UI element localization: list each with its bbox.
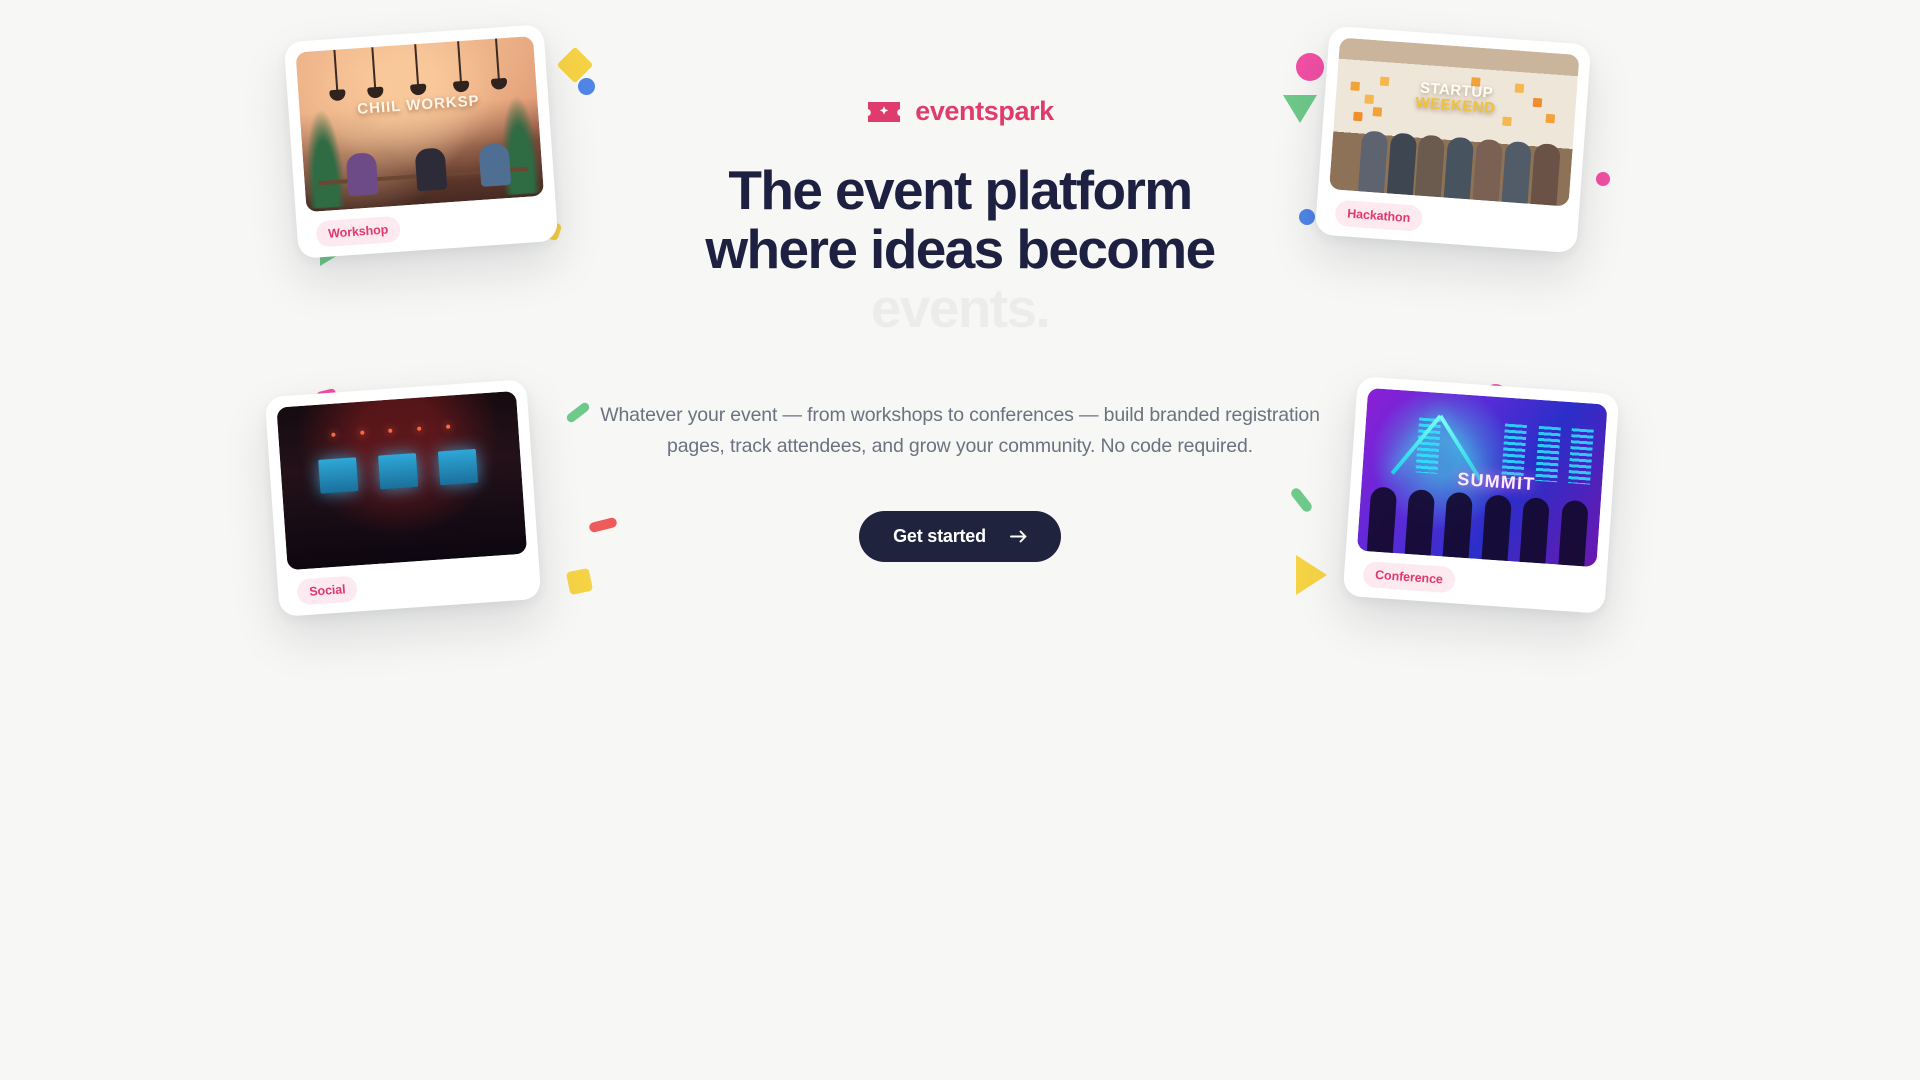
- ticket-icon: [866, 99, 902, 125]
- floating-card-social[interactable]: Social: [265, 379, 542, 617]
- get-started-label: Get started: [893, 526, 986, 547]
- social-chip: Social: [296, 575, 358, 605]
- brand-name: eventspark: [915, 96, 1054, 127]
- confetti-pink-circle-right: [1296, 53, 1324, 81]
- hero-content: eventspark The event platform where idea…: [580, 96, 1340, 562]
- hero-section: CHIIL WORKSP Workshop: [0, 0, 1920, 735]
- arrow-right-icon: [1010, 530, 1027, 543]
- brand-logo[interactable]: eventspark: [580, 96, 1340, 127]
- floating-card-workshop[interactable]: CHIIL WORKSP Workshop: [284, 24, 559, 259]
- hackathon-chip: Hackathon: [1334, 200, 1423, 232]
- headline-line-2: where ideas become: [580, 220, 1340, 279]
- floating-card-conference[interactable]: SUMMIT Conference: [1343, 376, 1620, 614]
- workshop-photo: CHIIL WORKSP: [295, 36, 544, 212]
- workshop-chip: Workshop: [315, 216, 401, 248]
- conference-photo: SUMMIT: [1357, 388, 1608, 567]
- get-started-button[interactable]: Get started: [859, 511, 1061, 562]
- conference-chip: Conference: [1362, 561, 1455, 593]
- confetti-yellow-square-lowleft: [566, 568, 593, 595]
- hackathon-photo: STARTUP WEEKEND: [1329, 37, 1579, 206]
- headline-line-3: events.: [580, 279, 1340, 338]
- headline-line-1: The event platform: [580, 161, 1340, 220]
- conference-photo-caption: SUMMIT: [1457, 469, 1536, 495]
- confetti-pink-dot-right: [1596, 172, 1610, 186]
- floating-card-hackathon[interactable]: STARTUP WEEKEND Hackathon: [1315, 26, 1592, 254]
- hero-subheading: Whatever your event — from workshops to …: [580, 400, 1340, 463]
- confetti-blue-circle: [578, 78, 595, 95]
- page-title: The event platform where ideas become ev…: [580, 161, 1340, 338]
- social-photo: [276, 391, 527, 570]
